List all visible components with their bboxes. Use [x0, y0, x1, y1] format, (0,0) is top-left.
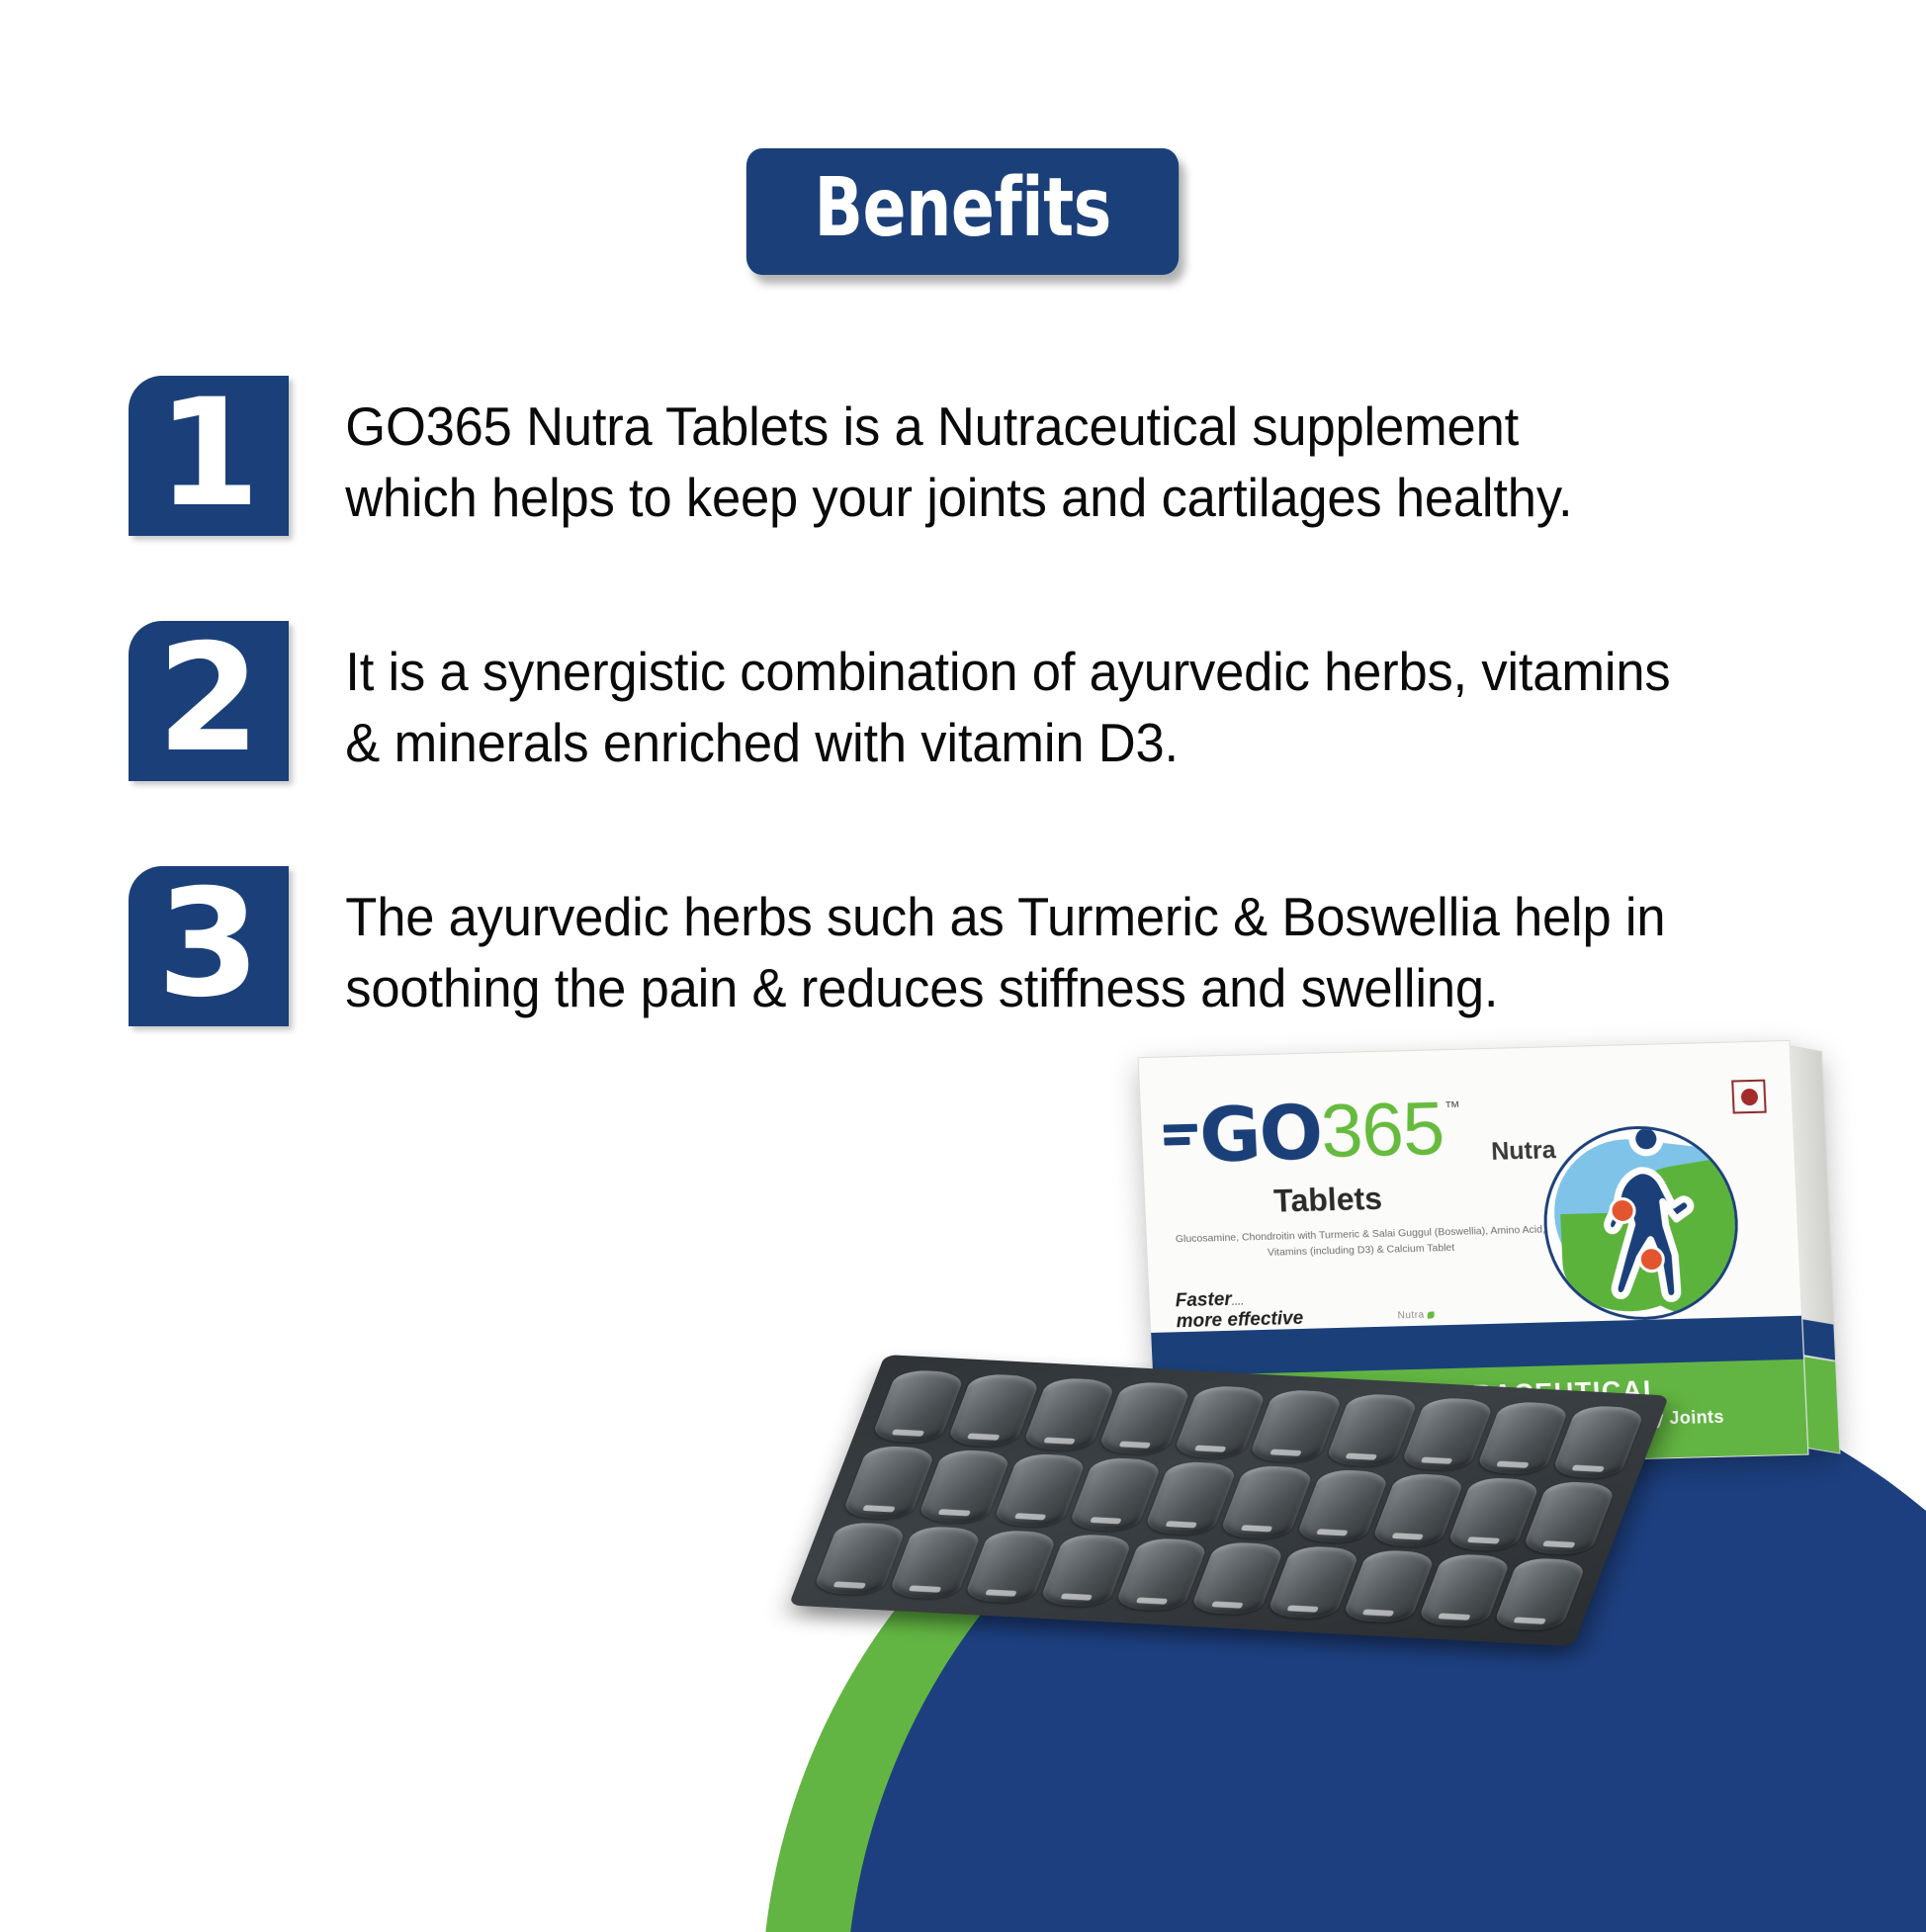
logo-tablets-text: Tablets [1272, 1181, 1382, 1220]
carton-tagline: Faster.... more effective [1175, 1287, 1303, 1333]
vegetarian-mark-icon [1731, 1080, 1767, 1114]
benefit-number-badge-2: 2 [129, 621, 289, 781]
blister-strip [789, 1355, 1670, 1646]
benefits-banner: Benefits [746, 148, 1180, 275]
runner-silhouette-icon [1542, 1127, 1739, 1320]
tagline-line1: Faster [1175, 1289, 1232, 1311]
benefit-text-2-line2: & minerals enriched with vitamin D3. [345, 708, 1721, 779]
benefits-list: 1 GO365 Nutra Tablets is a Nutraceutical… [129, 376, 1790, 1111]
benefit-item-2: 2 It is a synergistic combination of ayu… [129, 621, 1790, 781]
manufacturer-name: Nutra [1397, 1310, 1424, 1322]
blister-pack [784, 1355, 1669, 1659]
product-logo: GO 365 ™ [1163, 1094, 1463, 1173]
logo-bars-icon [1164, 1124, 1198, 1151]
infographic-page: Benefits 1 GO365 Nutra Tablets is a Nutr… [0, 0, 1926, 1932]
benefit-text-1-line2: which helps to keep your joints and cart… [345, 463, 1721, 534]
benefit-text-3-line2: soothing the pain & reduces stiffness an… [345, 953, 1721, 1024]
page-header: Benefits [0, 148, 1926, 275]
benefit-item-1: 1 GO365 Nutra Tablets is a Nutraceutical… [129, 376, 1790, 536]
trademark-icon: ™ [1444, 1099, 1461, 1117]
benefit-number-badge-1: 1 [129, 376, 289, 536]
benefit-text-2: It is a synergistic combination of ayurv… [289, 621, 1722, 778]
athlete-emblem-icon [1539, 1123, 1742, 1322]
benefit-item-3: 3 The ayurvedic herbs such as Turmeric &… [129, 866, 1790, 1026]
leaf-icon [1427, 1311, 1434, 1318]
benefit-text-3: The ayurvedic herbs such as Turmeric & B… [289, 866, 1722, 1023]
product-image: GO365 Nutra GO 365 ™ Nutra Tablets Gluco… [999, 1028, 1888, 1839]
tagline-ellipsis: .... [1232, 1295, 1245, 1307]
benefit-text-1: GO365 Nutra Tablets is a Nutraceutical s… [289, 376, 1722, 533]
logo-go-text: GO [1198, 1097, 1323, 1171]
benefit-text-2-line1: It is a synergistic combination of ayurv… [345, 637, 1721, 708]
carton-ingredients-text: Glucosamine, Chondroitin with Turmeric &… [1173, 1221, 1549, 1263]
benefit-text-1-line1: GO365 Nutra Tablets is a Nutraceutical s… [345, 392, 1721, 463]
logo-365-text: 365 [1320, 1094, 1445, 1168]
benefit-number-badge-3: 3 [129, 866, 289, 1026]
manufacturer-mark: Nutra [1397, 1309, 1434, 1321]
benefit-text-3-line1: The ayurvedic herbs such as Turmeric & B… [345, 882, 1721, 953]
